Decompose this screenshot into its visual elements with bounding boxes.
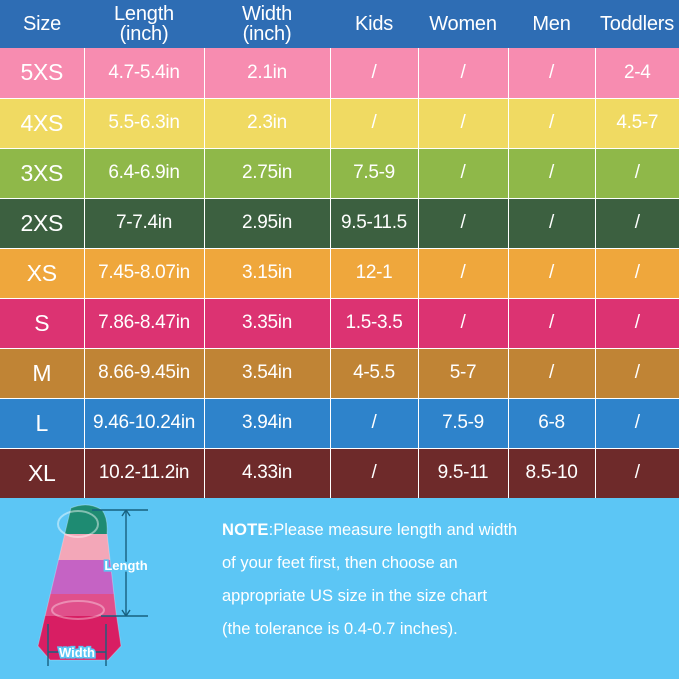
cell-length: 4.7-5.4in — [84, 48, 204, 98]
table-row: 2XS7-7.4in2.95in9.5-11.5/// — [0, 198, 679, 248]
cell-toddlers: / — [595, 348, 679, 398]
cell-kids: 9.5-11.5 — [330, 198, 418, 248]
cell-length: 7.86-8.47in — [84, 298, 204, 348]
table-header: Size Length (inch) Width (inch) Kids Wom… — [0, 0, 679, 48]
cell-size: XS — [0, 248, 84, 298]
width-label: Width — [59, 645, 95, 660]
cell-size: XL — [0, 448, 84, 498]
cell-toddlers: / — [595, 298, 679, 348]
cell-men: / — [508, 348, 595, 398]
table-row: M8.66-9.45in3.54in4-5.55-7// — [0, 348, 679, 398]
cell-kids: / — [330, 48, 418, 98]
cell-length: 6.4-6.9in — [84, 148, 204, 198]
cell-kids: 1.5-3.5 — [330, 298, 418, 348]
cell-width: 3.15in — [204, 248, 330, 298]
cell-men: / — [508, 198, 595, 248]
cell-women: / — [418, 98, 508, 148]
note-line-1: NOTE:Please measure length and width — [222, 514, 665, 547]
cell-women: / — [418, 148, 508, 198]
cell-length: 5.5-6.3in — [84, 98, 204, 148]
note-panel: Length Width NOTE:Please measure length … — [0, 498, 679, 679]
length-label: Length — [104, 558, 147, 573]
cell-size: 3XS — [0, 148, 84, 198]
column-header-toddlers: Toddlers — [595, 0, 679, 48]
column-header-length-label: Length — [114, 3, 174, 25]
cell-width: 3.54in — [204, 348, 330, 398]
cell-size: 2XS — [0, 198, 84, 248]
table-row: XL10.2-11.2in4.33in/9.5-118.5-10/ — [0, 448, 679, 498]
table-body: 5XS4.7-5.4in2.1in///2-44XS5.5-6.3in2.3in… — [0, 48, 679, 498]
note-keyword: NOTE — [222, 521, 269, 539]
cell-women: / — [418, 298, 508, 348]
cell-toddlers: 2-4 — [595, 48, 679, 98]
cell-size: 5XS — [0, 48, 84, 98]
cell-length: 10.2-11.2in — [84, 448, 204, 498]
column-header-width-label: Width — [242, 3, 292, 25]
table-row: L9.46-10.24in3.94in/7.5-96-8/ — [0, 398, 679, 448]
cell-length: 7-7.4in — [84, 198, 204, 248]
cell-width: 4.33in — [204, 448, 330, 498]
cell-width: 3.35in — [204, 298, 330, 348]
table-row: 3XS6.4-6.9in2.75in7.5-9/// — [0, 148, 679, 198]
cell-toddlers: / — [595, 398, 679, 448]
note-line-4: (the tolerance is 0.4-0.7 inches). — [222, 613, 665, 646]
note-text-block: NOTE:Please measure length and width of … — [210, 498, 679, 679]
cell-men: / — [508, 48, 595, 98]
cell-women: 7.5-9 — [418, 398, 508, 448]
cell-women: 9.5-11 — [418, 448, 508, 498]
cell-women: 5-7 — [418, 348, 508, 398]
column-header-women: Women — [418, 0, 508, 48]
table-row: 5XS4.7-5.4in2.1in///2-4 — [0, 48, 679, 98]
cell-women: / — [418, 198, 508, 248]
cell-men: 6-8 — [508, 398, 595, 448]
column-header-kids: Kids — [330, 0, 418, 48]
cell-men: 8.5-10 — [508, 448, 595, 498]
fin-illustration: Length Width — [0, 498, 210, 679]
cell-toddlers: / — [595, 248, 679, 298]
column-header-size: Size — [0, 0, 84, 48]
cell-kids: / — [330, 398, 418, 448]
cell-width: 2.1in — [204, 48, 330, 98]
cell-men: / — [508, 248, 595, 298]
cell-toddlers: / — [595, 198, 679, 248]
cell-size: S — [0, 298, 84, 348]
table-row: XS7.45-8.07in3.15in12-1/// — [0, 248, 679, 298]
size-chart-table: Size Length (inch) Width (inch) Kids Wom… — [0, 0, 679, 498]
cell-size: 4XS — [0, 98, 84, 148]
cell-toddlers: / — [595, 148, 679, 198]
cell-length: 8.66-9.45in — [84, 348, 204, 398]
cell-men: / — [508, 148, 595, 198]
note-line-2: of your feet first, then choose an — [222, 547, 665, 580]
table-row: 4XS5.5-6.3in2.3in///4.5-7 — [0, 98, 679, 148]
column-header-men: Men — [508, 0, 595, 48]
note-line-3: appropriate US size in the size chart — [222, 580, 665, 613]
cell-kids: / — [330, 448, 418, 498]
column-header-width: Width (inch) — [204, 0, 330, 48]
cell-length: 7.45-8.07in — [84, 248, 204, 298]
column-header-length-unit: (inch) — [86, 24, 202, 44]
column-header-length: Length (inch) — [84, 0, 204, 48]
header-row: Size Length (inch) Width (inch) Kids Wom… — [0, 0, 679, 48]
cell-size: L — [0, 398, 84, 448]
fin-diagram-svg: Length Width — [8, 500, 208, 676]
cell-kids: 7.5-9 — [330, 148, 418, 198]
cell-width: 2.95in — [204, 198, 330, 248]
cell-length: 9.46-10.24in — [84, 398, 204, 448]
cell-women: / — [418, 48, 508, 98]
table-row: S7.86-8.47in3.35in1.5-3.5/// — [0, 298, 679, 348]
column-header-width-unit: (inch) — [206, 24, 328, 44]
cell-kids: / — [330, 98, 418, 148]
column-header-kids-label: Kids — [355, 13, 393, 35]
cell-width: 2.75in — [204, 148, 330, 198]
column-header-toddlers-label: Toddlers — [600, 13, 674, 35]
cell-width: 3.94in — [204, 398, 330, 448]
cell-men: / — [508, 298, 595, 348]
column-header-size-label: Size — [23, 13, 61, 35]
cell-toddlers: / — [595, 448, 679, 498]
cell-toddlers: 4.5-7 — [595, 98, 679, 148]
cell-kids: 12-1 — [330, 248, 418, 298]
size-chart-page: Size Length (inch) Width (inch) Kids Wom… — [0, 0, 679, 679]
cell-size: M — [0, 348, 84, 398]
cell-women: / — [418, 248, 508, 298]
cell-width: 2.3in — [204, 98, 330, 148]
cell-kids: 4-5.5 — [330, 348, 418, 398]
cell-men: / — [508, 98, 595, 148]
column-header-men-label: Men — [532, 13, 570, 35]
note-line-1-text: :Please measure length and width — [269, 521, 518, 539]
column-header-women-label: Women — [429, 13, 497, 35]
